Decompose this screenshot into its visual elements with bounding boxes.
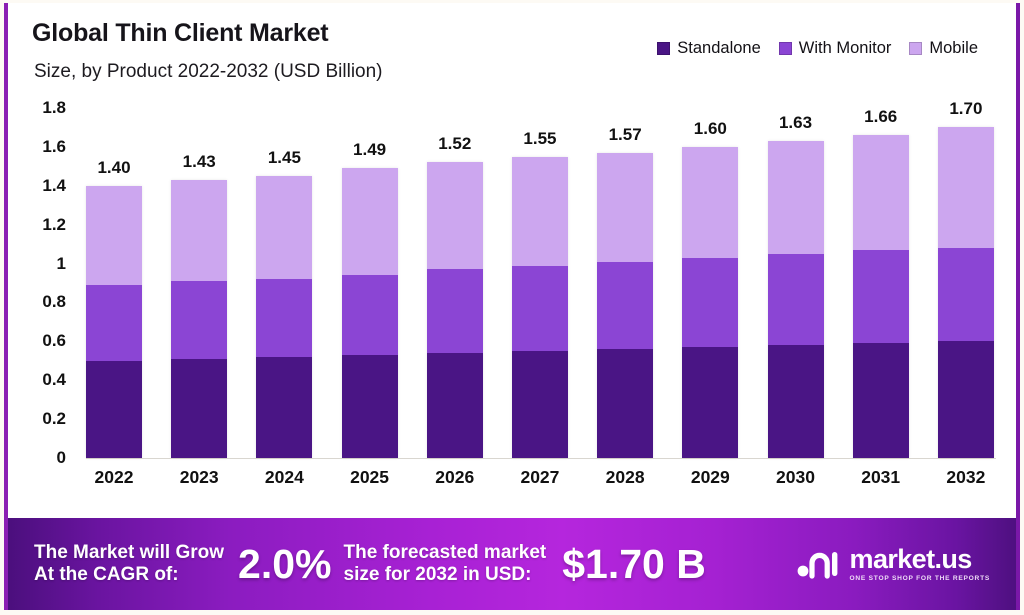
cagr-label: The Market will Grow At the CAGR of: (34, 542, 224, 587)
bar-segment-standalone[interactable] (171, 359, 227, 458)
bar-segment-mobile[interactable] (597, 153, 653, 262)
bar-segment-with-monitor[interactable] (256, 279, 312, 357)
bar-segment-with-monitor[interactable] (427, 269, 483, 353)
bar-segment-with-monitor[interactable] (682, 258, 738, 347)
bar-segment-standalone[interactable] (853, 343, 909, 458)
bar-column[interactable]: 1.52 (427, 108, 483, 458)
x-axis-tick: 2026 (427, 467, 483, 488)
bar-stack (171, 180, 227, 458)
bar-segment-standalone[interactable] (256, 357, 312, 458)
page-subtitle: Size, by Product 2022-2032 (USD Billion) (34, 61, 383, 83)
bar-segment-mobile[interactable] (853, 135, 909, 250)
legend-label: With Monitor (799, 39, 892, 58)
bar-segment-with-monitor[interactable] (86, 285, 142, 361)
bar-column[interactable]: 1.66 (853, 108, 909, 458)
bar-value-label: 1.45 (268, 148, 301, 168)
bar-column[interactable]: 1.57 (597, 108, 653, 458)
bar-column[interactable]: 1.55 (512, 108, 568, 458)
cagr-block: The Market will Grow At the CAGR of: 2.0… (34, 542, 332, 587)
bar-segment-mobile[interactable] (86, 186, 142, 285)
bar-stack (682, 147, 738, 458)
logo-tagline: ONE STOP SHOP FOR THE REPORTS (850, 576, 990, 583)
bar-segment-standalone[interactable] (342, 355, 398, 458)
bar-column[interactable]: 1.63 (768, 108, 824, 458)
bar-stack (512, 157, 568, 458)
bar-value-label: 1.60 (694, 119, 727, 139)
bar-column[interactable]: 1.60 (682, 108, 738, 458)
chart-area: Global Thin Client Market Size, by Produ… (8, 3, 1016, 518)
bar-segment-mobile[interactable] (256, 176, 312, 279)
y-axis-tick: 0.4 (14, 370, 66, 390)
bar-segment-standalone[interactable] (682, 347, 738, 458)
forecast-label: The forecasted market size for 2032 in U… (344, 542, 547, 587)
x-axis-tick: 2029 (682, 467, 738, 488)
legend-item-mobile[interactable]: Mobile (909, 39, 978, 58)
market-us-wordmark: market.us ONE STOP SHOP FOR THE REPORTS (850, 546, 990, 583)
y-axis-tick: 0.6 (14, 331, 66, 351)
legend-label: Mobile (929, 39, 978, 58)
x-axis-tick: 2023 (171, 467, 227, 488)
bar-value-label: 1.57 (609, 125, 642, 145)
y-axis: 00.20.40.60.811.21.41.61.8 (8, 108, 66, 458)
bar-segment-standalone[interactable] (597, 349, 653, 458)
legend-label: Standalone (677, 39, 761, 58)
y-axis-tick: 0 (14, 448, 66, 468)
infographic-root: Global Thin Client Market Size, by Produ… (0, 0, 1024, 615)
bar-value-label: 1.40 (97, 158, 130, 178)
bar-value-label: 1.43 (183, 152, 216, 172)
bar-segment-with-monitor[interactable] (597, 262, 653, 350)
bar-segment-with-monitor[interactable] (938, 248, 994, 341)
y-axis-tick: 1 (14, 254, 66, 274)
bar-column[interactable]: 1.43 (171, 108, 227, 458)
y-axis-tick: 0.2 (14, 409, 66, 429)
bar-group: 1.401.431.451.491.521.551.571.601.631.66… (86, 108, 994, 458)
bar-stack (938, 127, 994, 458)
bar-segment-with-monitor[interactable] (171, 281, 227, 359)
legend-swatch-icon (657, 42, 670, 55)
y-axis-tick: 1.2 (14, 215, 66, 235)
bar-segment-with-monitor[interactable] (768, 254, 824, 345)
y-axis-tick: 0.8 (14, 292, 66, 312)
x-axis-tick: 2030 (768, 467, 824, 488)
market-us-logo[interactable]: market.us ONE STOP SHOP FOR THE REPORTS (796, 544, 996, 585)
legend-item-with-monitor[interactable]: With Monitor (779, 39, 892, 58)
bar-stack (427, 162, 483, 458)
bar-segment-mobile[interactable] (768, 141, 824, 254)
page-title: Global Thin Client Market (32, 19, 328, 48)
x-axis-tick: 2031 (853, 467, 909, 488)
bar-value-label: 1.49 (353, 140, 386, 160)
bar-stack (597, 153, 653, 458)
forecast-label-line2: size for 2032 in USD: (344, 564, 547, 586)
forecast-value: $1.70 B (562, 544, 706, 585)
x-axis-tick: 2027 (512, 467, 568, 488)
bar-segment-standalone[interactable] (768, 345, 824, 458)
bar-segment-mobile[interactable] (938, 127, 994, 248)
y-axis-tick: 1.6 (14, 137, 66, 157)
bar-segment-with-monitor[interactable] (853, 250, 909, 343)
bar-value-label: 1.55 (523, 129, 556, 149)
cagr-label-line2: At the CAGR of: (34, 564, 224, 586)
bar-column[interactable]: 1.45 (256, 108, 312, 458)
bar-value-label: 1.70 (949, 99, 982, 119)
cagr-label-line1: The Market will Grow (34, 542, 224, 564)
x-axis-tick: 2022 (86, 467, 142, 488)
bar-column[interactable]: 1.40 (86, 108, 142, 458)
bar-stack (256, 176, 312, 458)
bar-segment-with-monitor[interactable] (342, 275, 398, 355)
bar-segment-mobile[interactable] (682, 147, 738, 258)
legend-swatch-icon (909, 42, 922, 55)
logo-name: market.us (850, 546, 990, 573)
bar-segment-mobile[interactable] (342, 168, 398, 275)
forecast-label-line1: The forecasted market (344, 542, 547, 564)
cagr-value: 2.0% (238, 544, 331, 585)
bar-segment-standalone[interactable] (938, 341, 994, 458)
footer-banner: The Market will Grow At the CAGR of: 2.0… (8, 518, 1016, 610)
legend-item-standalone[interactable]: Standalone (657, 39, 761, 58)
x-axis-tick: 2032 (938, 467, 994, 488)
bar-stack (86, 186, 142, 458)
bar-column[interactable]: 1.70 (938, 108, 994, 458)
chart-legend: Standalone With Monitor Mobile (657, 39, 978, 58)
bar-segment-standalone[interactable] (512, 351, 568, 458)
bar-segment-standalone[interactable] (86, 361, 142, 458)
bar-segment-mobile[interactable] (512, 157, 568, 266)
bar-segment-mobile[interactable] (171, 180, 227, 281)
chart-frame: Global Thin Client Market Size, by Produ… (4, 3, 1020, 610)
market-us-mark-icon (796, 544, 842, 585)
bar-value-label: 1.63 (779, 113, 812, 133)
x-axis-labels: 2022202320242025202620272028202920302031… (86, 467, 994, 488)
bar-segment-standalone[interactable] (427, 353, 483, 458)
x-axis-tick: 2024 (256, 467, 312, 488)
forecast-block: The forecasted market size for 2032 in U… (344, 542, 706, 587)
x-axis-tick: 2025 (342, 467, 398, 488)
bar-value-label: 1.52 (438, 134, 471, 154)
x-axis-baseline (86, 458, 996, 459)
bar-segment-with-monitor[interactable] (512, 266, 568, 352)
bar-segment-mobile[interactable] (427, 162, 483, 269)
bar-value-label: 1.66 (864, 107, 897, 127)
bar-stack (853, 135, 909, 458)
bar-stack (342, 168, 398, 458)
legend-swatch-icon (779, 42, 792, 55)
y-axis-tick: 1.4 (14, 176, 66, 196)
x-axis-tick: 2028 (597, 467, 653, 488)
bar-column[interactable]: 1.49 (342, 108, 398, 458)
y-axis-tick: 1.8 (14, 98, 66, 118)
bar-stack (768, 141, 824, 458)
